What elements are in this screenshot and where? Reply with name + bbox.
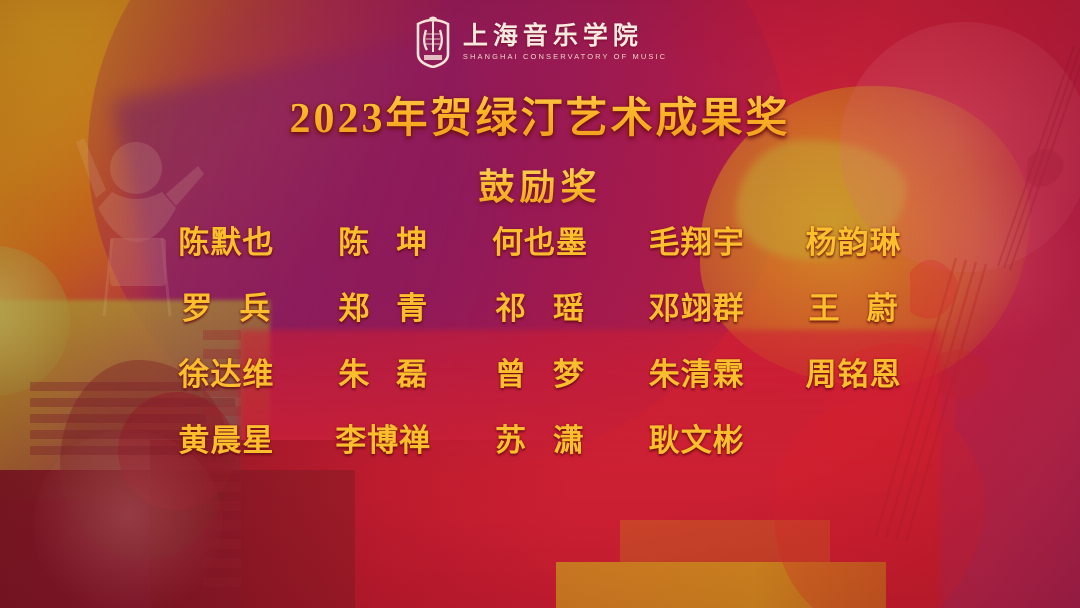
recipient-name: 陈坤: [305, 217, 462, 262]
recipient-name: 王蔚: [775, 283, 932, 328]
recipient-name: 耿文彬: [618, 415, 775, 460]
recipient-row: 罗兵郑青祁瑶邓翊群王蔚: [148, 278, 932, 332]
recipient-name: 朱磊: [305, 349, 462, 394]
recipient-name: 朱清霖: [618, 349, 775, 394]
recipient-row: 黄晨星李博禅苏潇耿文彬: [148, 410, 932, 464]
recipient-name: 郑青: [305, 283, 462, 328]
recipient-name: 周铭恩: [775, 349, 932, 394]
page-title: 2023年贺绿汀艺术成果奖: [0, 84, 1080, 145]
recipient-name: 毛翔宇: [618, 217, 775, 262]
institution-logo: 上海音乐学院 SHANGHAI CONSERVATORY OF MUSIC: [0, 16, 1080, 68]
recipient-name: 杨韵琳: [775, 217, 932, 262]
recipient-name: 邓翊群: [618, 283, 775, 328]
recipient-name: 黄晨星: [148, 415, 305, 460]
recipient-name: 陈默也: [148, 217, 305, 262]
recipient-name: 苏潇: [462, 415, 619, 460]
institution-name-en: SHANGHAI CONSERVATORY OF MUSIC: [463, 53, 667, 61]
award-slide: 上海音乐学院 SHANGHAI CONSERVATORY OF MUSIC 20…: [0, 0, 1080, 608]
recipient-list: 陈默也陈坤何也墨毛翔宇杨韵琳罗兵郑青祁瑶邓翊群王蔚徐达维朱磊曾梦朱清霖周铭恩黄晨…: [148, 212, 932, 476]
recipient-name: 何也墨: [462, 217, 619, 262]
recipient-name: 曾梦: [462, 349, 619, 394]
recipient-row: 陈默也陈坤何也墨毛翔宇杨韵琳: [148, 212, 932, 266]
recipient-row: 徐达维朱磊曾梦朱清霖周铭恩: [148, 344, 932, 398]
recipient-name: 罗兵: [148, 283, 305, 328]
lyre-shield-icon: [413, 16, 453, 68]
award-category: 鼓励奖: [0, 158, 1080, 210]
recipient-name: 李博禅: [305, 415, 462, 460]
institution-name-cn: 上海音乐学院: [463, 24, 643, 49]
recipient-name: 祁瑶: [462, 283, 619, 328]
recipient-name: 徐达维: [148, 349, 305, 394]
